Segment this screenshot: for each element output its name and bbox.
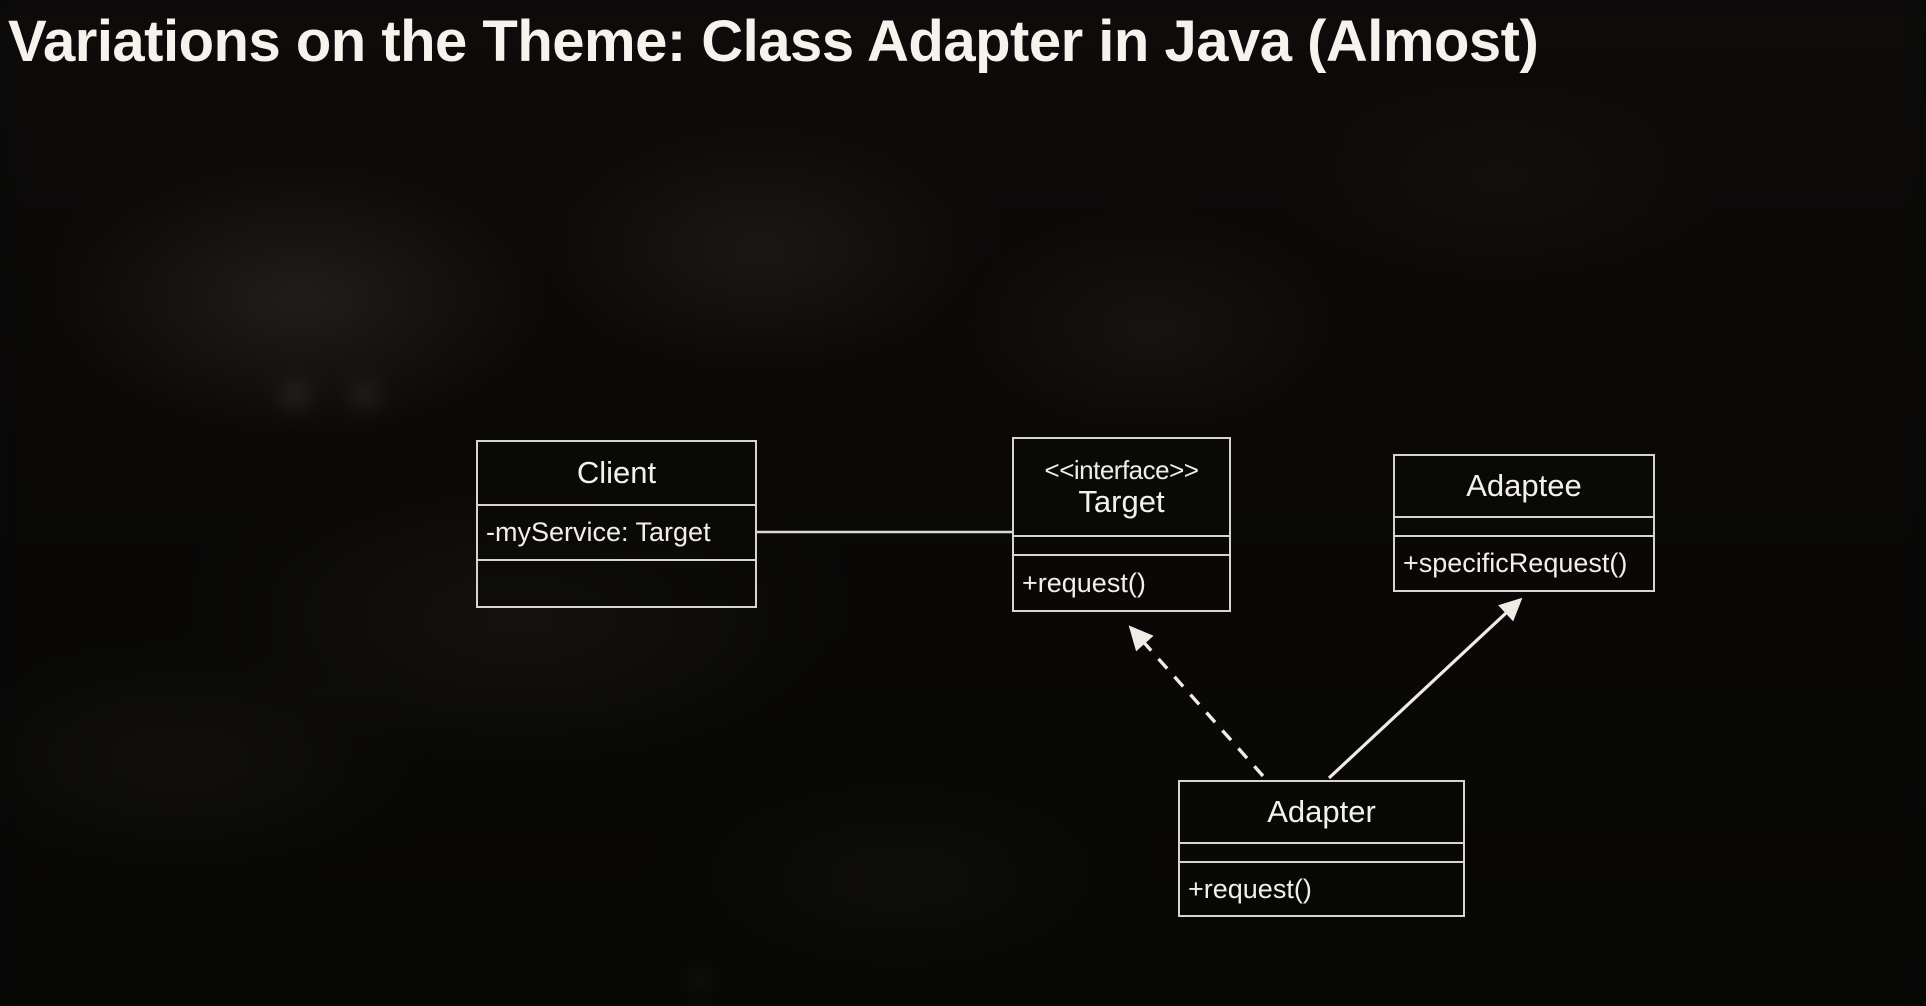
- uml-class-adapter[interactable]: Adapter +request(): [1178, 780, 1465, 917]
- adapter-operations-compartment: +request(): [1180, 861, 1463, 915]
- target-operations-compartment: +request(): [1014, 554, 1229, 610]
- target-class-name: Target: [1078, 485, 1164, 518]
- adaptee-operation-specificrequest: +specificRequest(): [1403, 548, 1627, 579]
- adapter-class-name: Adapter: [1267, 795, 1376, 828]
- client-class-name: Client: [577, 456, 656, 489]
- uml-class-diagram: Client -myService: Target <<interface>> …: [0, 0, 1926, 1006]
- target-operation-request: +request(): [1022, 568, 1146, 599]
- uml-class-client[interactable]: Client -myService: Target: [476, 440, 757, 608]
- adaptee-name-compartment: Adaptee: [1395, 456, 1653, 516]
- client-attribute-myservice: -myService: Target: [486, 517, 711, 548]
- client-operations-compartment: [478, 559, 755, 608]
- edge-adapter-adaptee: [1329, 600, 1520, 778]
- target-name-compartment: <<interface>> Target: [1014, 439, 1229, 535]
- adapter-operation-request: +request(): [1188, 874, 1312, 905]
- uml-class-target[interactable]: <<interface>> Target +request(): [1012, 437, 1231, 612]
- adapter-attributes-compartment: [1180, 842, 1463, 861]
- adaptee-operations-compartment: +specificRequest(): [1395, 535, 1653, 590]
- edge-adapter-target: [1131, 628, 1263, 776]
- adaptee-attributes-compartment: [1395, 516, 1653, 535]
- target-attributes-compartment: [1014, 535, 1229, 554]
- adaptee-class-name: Adaptee: [1466, 469, 1582, 502]
- target-stereotype: <<interface>>: [1045, 456, 1199, 485]
- uml-class-adaptee[interactable]: Adaptee +specificRequest(): [1393, 454, 1655, 592]
- client-attributes-compartment: -myService: Target: [478, 504, 755, 559]
- client-name-compartment: Client: [478, 442, 755, 504]
- adapter-name-compartment: Adapter: [1180, 782, 1463, 842]
